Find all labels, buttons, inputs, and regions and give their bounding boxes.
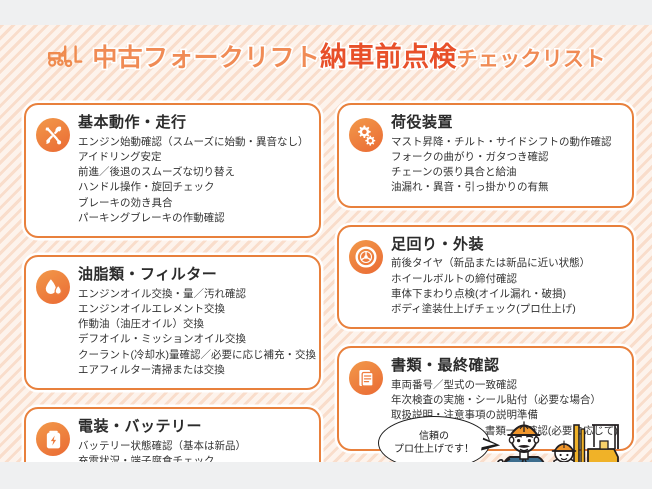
checklist-items: バッテリー状態確認（基本は新品） 充電状況・端子腐食チェック ヘッドライト・テー…: [78, 439, 309, 462]
tools-icon: [36, 118, 70, 152]
card-title: 足回り・外装: [391, 236, 622, 255]
checklist-card-basic-operation: 基本動作・走行 エンジン始動確認（スムーズに始動・異音なし） アイドリング安定 …: [24, 103, 321, 238]
checklist-items: 前後タイヤ（新品または新品に近い状態） ホイールボルトの締付確認 車体下まわり点…: [391, 256, 622, 317]
list-item: 前進／後退のスムーズな切り替え: [78, 165, 309, 180]
oil-drop-icon: [36, 270, 70, 304]
list-item: 前後タイヤ（新品または新品に近い状態）: [391, 256, 622, 271]
document-icon: [349, 361, 383, 395]
list-item: ホイールボルトの締付確認: [391, 272, 622, 287]
bubble-line-2: プロ仕上げです！: [394, 443, 474, 457]
list-item: マスト昇降・チルト・サイドシフトの動作確認: [391, 135, 622, 150]
title-segment-3: チェックリスト: [457, 49, 606, 70]
page-title: 中古フォークリフト納車前点検チェックリスト: [0, 37, 652, 77]
checklist-card-oils-filters: 油脂類・フィルター エンジンオイル交換・量／汚れ確認 エンジンオイルエレメント交…: [24, 255, 321, 390]
checklist-items: エンジンオイル交換・量／汚れ確認 エンジンオイルエレメント交換 作動油（油圧オイ…: [78, 287, 309, 378]
list-item: パーキングブレーキの作動確認: [78, 211, 309, 226]
list-item: エンジンオイルエレメント交換: [78, 302, 309, 317]
left-column: 基本動作・走行 エンジン始動確認（スムーズに始動・異音なし） アイドリング安定 …: [24, 103, 321, 462]
right-column: 荷役装置 マスト昇降・チルト・サイドシフトの動作確認 フォークの曲がり・ガタつき…: [337, 103, 634, 462]
battery-icon: [36, 422, 70, 456]
forklift-graphic: [568, 425, 620, 462]
speech-bubble: 信頼の プロ仕上げです！: [378, 416, 490, 462]
list-item: エンジンオイル交換・量／汚れ確認: [78, 287, 309, 302]
list-item: デフオイル・ミッションオイル交換: [78, 332, 309, 347]
list-item: 車体下まわり点検(オイル漏れ・破損): [391, 287, 622, 302]
list-item: バッテリー状態確認（基本は新品）: [78, 439, 309, 454]
list-item: ボディ塗装仕上げチェック(プロ仕上げ): [391, 302, 622, 317]
tire-icon: [349, 240, 383, 274]
card-title: 基本動作・走行: [78, 114, 309, 133]
list-item: 充電状況・端子腐食チェック: [78, 454, 309, 462]
list-item: クーラント(冷却水)量確認／必要に応じ補充・交換: [78, 348, 309, 363]
mascot-area: 信頼の プロ仕上げです！: [378, 413, 640, 462]
checklist-card-undercarriage-exterior: 足回り・外装 前後タイヤ（新品または新品に近い状態） ホイールボルトの締付確認 …: [337, 225, 634, 330]
list-item: エンジン始動確認（スムーズに始動・異音なし）: [78, 135, 309, 150]
title-segment-1: 中古フォークリフト: [92, 46, 320, 71]
checklist-items: エンジン始動確認（スムーズに始動・異音なし） アイドリング安定 前進／後退のスム…: [78, 135, 309, 226]
checklist-items: マスト昇降・チルト・サイドシフトの動作確認 フォークの曲がり・ガタつき確認 チェ…: [391, 135, 622, 196]
list-item: 年次検査の実施・シール貼付（必要な場合）: [391, 393, 622, 408]
list-item: ハンドル操作・旋回チェック: [78, 180, 309, 195]
title-segment-2: 納車前点検: [320, 44, 457, 71]
checklist-card-electrical-battery: 電装・バッテリー バッテリー状態確認（基本は新品） 充電状況・端子腐食チェック …: [24, 407, 321, 462]
checklist-card-load-handling: 荷役装置 マスト昇降・チルト・サイドシフトの動作確認 フォークの曲がり・ガタつき…: [337, 103, 634, 208]
worker-and-forklift-illustration: [496, 413, 628, 462]
list-item: チェーンの張り具合と給油: [391, 165, 622, 180]
list-item: ブレーキの効き具合: [78, 196, 309, 211]
card-title: 電装・バッテリー: [78, 418, 309, 437]
list-item: アイドリング安定: [78, 150, 309, 165]
bubble-line-1: 信頼の: [419, 430, 449, 444]
forklift-icon: [46, 44, 84, 70]
poster-canvas: 中古フォークリフト納車前点検チェックリスト: [0, 25, 652, 462]
list-item: エアフィルター清掃または交換: [78, 363, 309, 378]
card-title: 油脂類・フィルター: [78, 266, 309, 285]
list-item: フォークの曲がり・ガタつき確認: [391, 150, 622, 165]
list-item: 作動油（油圧オイル）交換: [78, 317, 309, 332]
worker-figure: [497, 421, 548, 462]
list-item: 油漏れ・異音・引っ掛かりの有無: [391, 180, 622, 195]
gears-icon: [349, 118, 383, 152]
card-title: 荷役装置: [391, 114, 622, 133]
card-title: 書類・最終確認: [391, 357, 622, 376]
list-item: 車両番号／型式の一致確認: [391, 378, 622, 393]
